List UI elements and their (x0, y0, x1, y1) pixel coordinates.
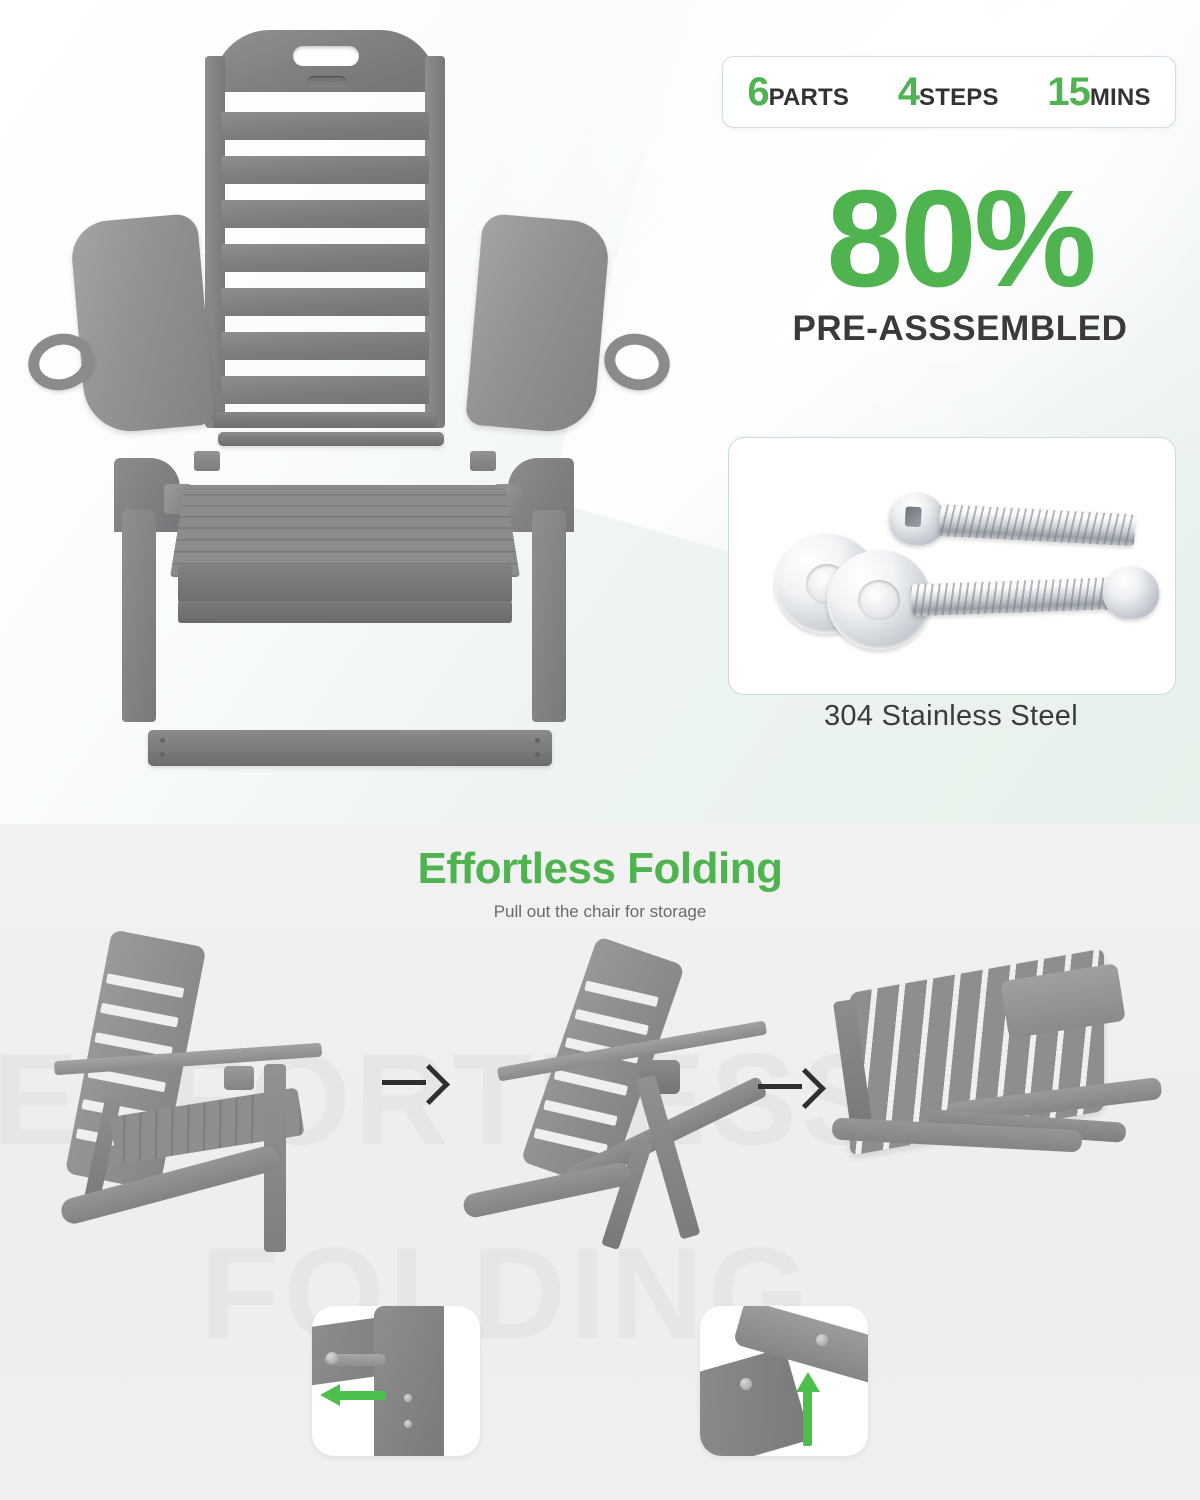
detail-callouts (0, 1294, 1200, 1484)
section-subtitle: Pull out the chair for storage (0, 902, 1200, 922)
arrow-head (320, 1384, 340, 1406)
bolt-icon (888, 487, 1141, 560)
bolt-icon (910, 562, 1162, 631)
part-upper-rail (218, 432, 444, 446)
screw-hole-icon (535, 738, 540, 743)
screw-icon (404, 1394, 412, 1402)
stat-steps: 4 STEPS (898, 72, 999, 112)
part-armrest-right (474, 218, 602, 430)
backrest-slat (106, 973, 184, 998)
stat-mins: 15 MINS (1047, 72, 1150, 112)
washer-hole (858, 580, 900, 620)
chair-folded-flat-image (828, 954, 1178, 1204)
seat-front-lip (178, 601, 512, 623)
bolt-shank (938, 504, 1135, 546)
stat-steps-unit: STEPS (919, 86, 999, 110)
seat-tab-right (470, 451, 496, 471)
screw-hole-icon (535, 752, 540, 757)
stat-parts-unit: PARTS (769, 86, 850, 110)
armrest-body (465, 213, 611, 435)
bottom-panel: EFFORTLESS FOLDING Effortless Folding Pu… (0, 824, 1200, 1500)
screw-hole-icon (160, 738, 165, 743)
stat-parts: 6 PARTS (747, 72, 849, 112)
stats-bar: 6 PARTS 4 STEPS 15 MINS (722, 56, 1176, 128)
chair-cupholder (224, 1066, 254, 1090)
seat-tab-left (194, 451, 220, 471)
arrow-head (796, 1372, 820, 1392)
part-leg-right (528, 458, 572, 718)
screw-icon (816, 1334, 828, 1346)
part-armrest-left (78, 218, 206, 430)
leg-shaft (532, 510, 566, 722)
stat-steps-number: 4 (898, 72, 919, 112)
preassembled-label: PRE-ASSSEMBLED (760, 309, 1160, 349)
backrest-handle-slot (293, 46, 359, 66)
brand-badge-icon (308, 76, 346, 87)
hardware-card (728, 437, 1176, 695)
backrest-slat (543, 1100, 617, 1126)
backrest-slat (221, 244, 429, 272)
leg-shaft (122, 510, 156, 722)
armrest-body (69, 213, 215, 435)
seat-front-panel (178, 565, 512, 603)
screw-icon (404, 1420, 412, 1428)
product-infographic: 6 PARTS 4 STEPS 15 MINS 80% PRE-ASSSEMBL… (0, 0, 1200, 1500)
bolt-shank (911, 577, 1112, 616)
green-arrow-up-icon (796, 1372, 820, 1448)
callout-hinge-release (312, 1306, 480, 1456)
folding-sequence (0, 924, 1200, 1254)
screw-icon (740, 1378, 752, 1390)
screw-hole-icon (160, 752, 165, 757)
backrest-slat (533, 1128, 607, 1154)
callout-leg (700, 1347, 811, 1456)
backrest-slat (100, 1003, 178, 1028)
arrow-right-icon-1 (382, 1066, 446, 1100)
stat-parts-number: 6 (747, 72, 768, 112)
hardware-caption: 304 Stainless Steel (728, 700, 1174, 733)
part-backrest (205, 30, 445, 428)
backrest-slat (575, 1009, 649, 1035)
backrest-slat (221, 112, 429, 140)
screw-icon (326, 1352, 338, 1364)
backrest-base-rail (213, 412, 437, 428)
green-arrow-left-icon (320, 1384, 386, 1406)
section-title: Effortless Folding (0, 844, 1200, 894)
seat-slats (170, 485, 520, 577)
preassembled-highlight: 80% PRE-ASSSEMBLED (760, 176, 1160, 349)
backrest-slat (221, 376, 429, 404)
backrest-slat (554, 1069, 628, 1095)
chair-mid-fold-image (452, 932, 772, 1244)
callout-leg-lift (700, 1306, 868, 1456)
arrow-head (409, 1064, 450, 1105)
backrest-slat (584, 981, 658, 1007)
stat-mins-unit: MINS (1090, 86, 1151, 110)
backrest-slat (221, 200, 429, 228)
chair-upright-image (28, 934, 358, 1244)
preassembled-percentage: 80% (760, 176, 1160, 303)
callout-post (374, 1306, 444, 1456)
bolt-head (1102, 566, 1160, 620)
arrow-right-icon-2 (758, 1070, 822, 1104)
stat-mins-number: 15 (1047, 72, 1090, 112)
top-panel: 6 PARTS 4 STEPS 15 MINS 80% PRE-ASSSEMBL… (0, 0, 1200, 824)
part-seat-assembly (170, 465, 520, 635)
bolt-socket (905, 506, 922, 527)
arrow-head (785, 1068, 826, 1109)
backrest-slat (221, 288, 429, 316)
arrow-shaft (803, 1388, 812, 1446)
arrow-shaft (338, 1391, 386, 1400)
part-leg-left (116, 458, 160, 718)
backrest-slat (221, 156, 429, 184)
exploded-diagram (0, 0, 700, 824)
cupholder-ring-right (598, 327, 676, 397)
backrest-slat (221, 332, 429, 360)
part-cross-brace (148, 730, 552, 766)
